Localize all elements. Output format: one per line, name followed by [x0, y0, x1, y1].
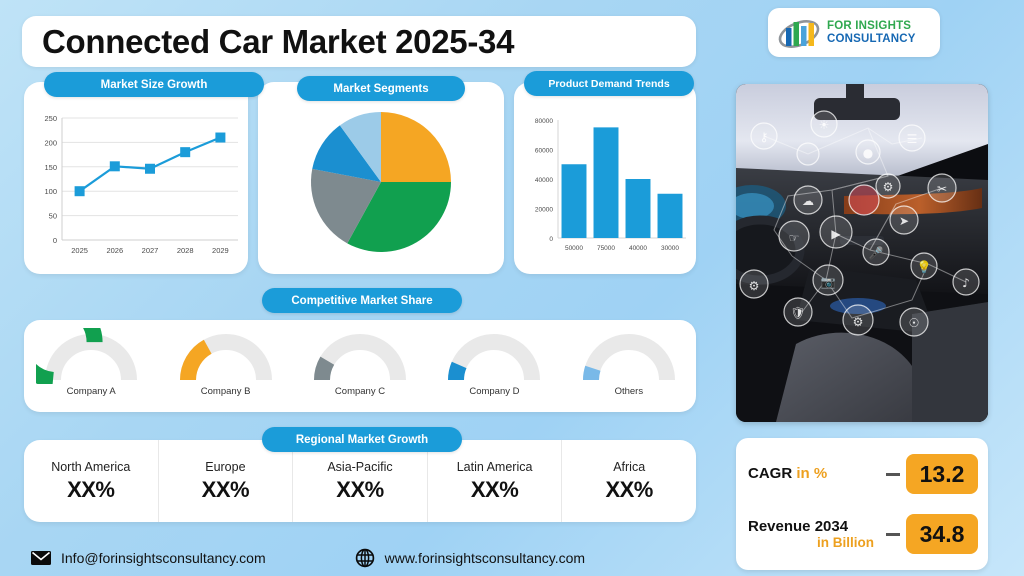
region-value: XX%: [605, 477, 652, 503]
stat-cagr-unit: in %: [796, 465, 827, 482]
svg-text:75000: 75000: [597, 245, 615, 252]
region-cell-asia-pacific: Asia-PacificXX%: [293, 440, 428, 522]
svg-text:100: 100: [44, 187, 57, 196]
svg-text:⚙: ⚙: [853, 315, 864, 329]
pie-chart: [258, 104, 504, 272]
gauge-arc: [171, 328, 281, 384]
title-card: Connected Car Market 2025-34: [22, 16, 696, 67]
region-row: North AmericaXX%EuropeXX%Asia-PacificXX%…: [24, 440, 696, 522]
svg-text:2027: 2027: [142, 246, 159, 255]
footer-website[interactable]: www.forinsightsconsultancy.com: [354, 547, 585, 569]
logo-text: FOR INSIGHTS CONSULTANCY: [827, 20, 916, 44]
gauge-row-wrapper: Company ACompany BCompany CCompany DOthe…: [24, 320, 696, 412]
region-cell-africa: AfricaXX%: [562, 440, 696, 522]
svg-text:➤: ➤: [899, 214, 909, 228]
footer: Info@forinsightsconsultancy.com www.fori…: [0, 540, 712, 576]
region-name: Europe: [205, 460, 245, 474]
gauge-company-d: Company D: [427, 320, 561, 412]
stat-revenue-label: Revenue 2034: [748, 518, 880, 535]
svg-text:●: ●: [863, 146, 873, 160]
svg-text:30000: 30000: [661, 245, 679, 252]
stat-row-cagr: CAGR in % 13.2: [736, 454, 988, 494]
region-value: XX%: [67, 477, 114, 503]
region-name: Latin America: [457, 460, 533, 474]
infographic-canvas: Connected Car Market 2025-34 FOR INSIGHT…: [0, 0, 1024, 576]
stat-row-revenue: Revenue 2034 in Billion 34.8: [736, 514, 988, 554]
stat-revenue-unit: in Billion: [748, 535, 880, 551]
svg-text:200: 200: [44, 138, 57, 147]
svg-text:50: 50: [49, 212, 57, 221]
connected-car-interior-photo: ⚷ ☀ ☰ ● ⚙ ☁ ✂ ➤ ▶ ☞ 🎤 💡 ♪ 📷 ⚙ 🛡 ⚙ ☉: [736, 84, 988, 422]
dash-separator: [886, 533, 900, 536]
svg-text:✂: ✂: [937, 182, 947, 196]
gauge-arc: [439, 328, 549, 384]
stat-value-cagr: 13.2: [906, 454, 978, 494]
logo-line-2: CONSULTANCY: [827, 33, 916, 45]
svg-text:📷: 📷: [821, 275, 836, 289]
svg-text:☉: ☉: [909, 316, 920, 330]
dash-separator: [886, 473, 900, 476]
svg-text:40000: 40000: [535, 177, 553, 184]
bar-chart: 0200004000060000800005000075000400003000…: [514, 104, 696, 272]
panel-title-market-segments: Market Segments: [297, 76, 465, 101]
page-title: Connected Car Market 2025-34: [22, 23, 514, 61]
svg-text:☁: ☁: [802, 194, 814, 208]
svg-text:💡: 💡: [917, 260, 932, 274]
svg-text:♪: ♪: [962, 276, 970, 290]
company-logo: FOR INSIGHTS CONSULTANCY: [768, 8, 940, 57]
logo-line-1: FOR INSIGHTS: [827, 20, 916, 32]
logo-bars-icon: [776, 15, 822, 51]
envelope-icon: [30, 547, 52, 569]
panel-title-regional: Regional Market Growth: [262, 427, 462, 452]
region-cell-north-america: North AmericaXX%: [24, 440, 159, 522]
footer-website-text: www.forinsightsconsultancy.com: [385, 550, 585, 566]
stat-cagr-label: CAGR: [748, 465, 792, 482]
gauge-company-b: Company B: [158, 320, 292, 412]
region-value: XX%: [202, 477, 249, 503]
svg-text:50000: 50000: [565, 245, 583, 252]
svg-text:250: 250: [44, 114, 57, 123]
svg-text:60000: 60000: [535, 148, 553, 155]
stat-value-revenue: 34.8: [906, 514, 978, 554]
line-chart: 05010015020025020252026202720282029: [24, 104, 248, 272]
panel-title-market-size: Market Size Growth: [44, 72, 264, 97]
svg-text:☞: ☞: [789, 231, 800, 245]
svg-text:80000: 80000: [535, 118, 553, 125]
svg-text:0: 0: [549, 236, 553, 243]
region-cell-latin-america: Latin AmericaXX%: [428, 440, 563, 522]
gauge-label: Company A: [67, 386, 116, 397]
svg-text:⚷: ⚷: [760, 130, 769, 144]
svg-text:150: 150: [44, 163, 57, 172]
svg-text:2028: 2028: [177, 246, 194, 255]
region-value: XX%: [471, 477, 518, 503]
gauge-company-c: Company C: [293, 320, 427, 412]
svg-text:20000: 20000: [535, 207, 553, 214]
gauge-label: Others: [615, 386, 644, 397]
svg-text:🎤: 🎤: [869, 245, 884, 260]
key-stats-card: CAGR in % 13.2 Revenue 2034 in Billion 3…: [736, 438, 988, 570]
footer-email[interactable]: Info@forinsightsconsultancy.com: [30, 547, 266, 569]
gauge-arc: [36, 328, 146, 384]
gauge-label: Company C: [335, 386, 385, 397]
gauge-others: Others: [562, 320, 696, 412]
gauge-arc: [574, 328, 684, 384]
svg-text:⚙: ⚙: [883, 180, 894, 194]
gauge-label: Company D: [469, 386, 519, 397]
region-row-wrapper: North AmericaXX%EuropeXX%Asia-PacificXX%…: [24, 440, 696, 522]
gauge-arc: [305, 328, 415, 384]
svg-text:40000: 40000: [629, 245, 647, 252]
footer-email-text: Info@forinsightsconsultancy.com: [61, 550, 266, 566]
svg-text:▶: ▶: [831, 227, 841, 241]
svg-text:🛡: 🛡: [790, 306, 805, 320]
gauge-label: Company B: [201, 386, 251, 397]
gauge-company-a: Company A: [24, 320, 158, 412]
gauge-row: Company ACompany BCompany CCompany DOthe…: [24, 320, 696, 412]
globe-icon: [354, 547, 376, 569]
region-name: North America: [51, 460, 130, 474]
svg-text:2025: 2025: [71, 246, 88, 255]
panel-title-product-demand: Product Demand Trends: [524, 71, 694, 96]
svg-text:0: 0: [53, 236, 57, 245]
region-value: XX%: [336, 477, 383, 503]
panel-title-competitive: Competitive Market Share: [262, 288, 462, 313]
svg-text:2029: 2029: [212, 246, 229, 255]
stat-label-revenue: Revenue 2034 in Billion: [748, 518, 880, 551]
svg-text:⚙: ⚙: [749, 279, 760, 293]
svg-text:2026: 2026: [106, 246, 123, 255]
svg-text:☀: ☀: [819, 118, 830, 132]
region-name: Africa: [613, 460, 645, 474]
region-name: Asia-Pacific: [327, 460, 392, 474]
region-cell-europe: EuropeXX%: [159, 440, 294, 522]
stat-label-cagr: CAGR in %: [748, 465, 880, 483]
svg-text:☰: ☰: [907, 132, 918, 146]
